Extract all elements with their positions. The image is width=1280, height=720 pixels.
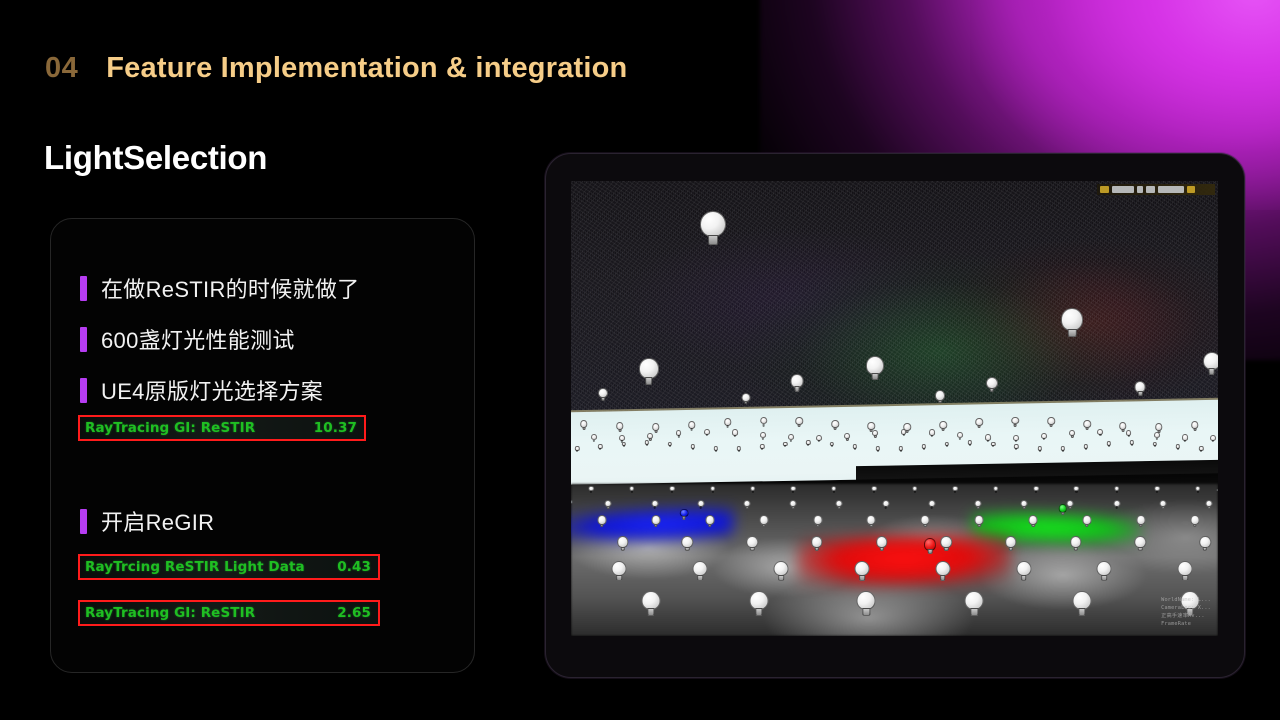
lightbulb <box>1016 561 1031 581</box>
lightbulb <box>597 515 606 527</box>
lightbulb <box>641 591 660 616</box>
lightbulb <box>759 515 768 527</box>
lightbulb <box>580 420 588 430</box>
bulb-base <box>1138 547 1142 552</box>
lightbulb <box>598 444 602 450</box>
lightbulb <box>836 500 843 509</box>
list-item: 在做ReSTIR的时候就做了 <box>80 272 359 304</box>
toolbar-button[interactable] <box>1146 186 1155 193</box>
bulb-base <box>1208 368 1215 375</box>
lightbulb <box>749 591 768 616</box>
viewport-stats-overlay: WorldName: L...CameraLoc: X...正高手速率Av...… <box>1161 596 1211 628</box>
lightbulb <box>922 444 926 450</box>
bulb-base <box>1162 506 1165 509</box>
bulb-base <box>1156 438 1158 440</box>
bulb-base <box>1062 450 1064 452</box>
lightbulb <box>1155 486 1161 493</box>
bulb-base <box>697 575 703 581</box>
bulb-base <box>792 491 794 493</box>
lightbulb <box>652 423 660 433</box>
bulb-glass <box>700 211 726 238</box>
lightbulb <box>985 434 991 442</box>
bulb-base <box>646 444 648 446</box>
lightbulb <box>710 486 716 493</box>
bulb-base <box>1131 444 1133 446</box>
lightbulb <box>732 429 738 437</box>
lightbulb <box>831 486 837 493</box>
bulb-base <box>959 438 961 440</box>
lightbulb <box>921 515 930 527</box>
bulb-base <box>600 524 603 528</box>
bulb-base <box>1212 440 1214 442</box>
bulb-base <box>746 506 749 509</box>
lightbulb <box>1083 420 1091 430</box>
list-item: UE4原版灯光选择方案 <box>80 374 323 406</box>
lightbulb <box>853 444 857 450</box>
viewport-toolbar[interactable] <box>1097 184 1215 195</box>
stat-value: 0.43 <box>337 559 371 575</box>
lightbulb <box>912 486 918 493</box>
list-item: 开启ReGIR <box>80 505 214 537</box>
slide-number: 04 <box>45 52 78 85</box>
lightbulb <box>882 500 889 509</box>
bulb-base <box>995 491 997 493</box>
bulb-base <box>1009 547 1013 552</box>
bulb-base <box>708 235 718 245</box>
lightbulb <box>629 486 635 493</box>
slide-title: Feature Implementation & integration <box>106 52 627 85</box>
list-item-label: 开启ReGIR <box>101 505 214 537</box>
lightbulb <box>697 500 704 509</box>
lightbulb <box>616 422 624 432</box>
bulb-base <box>683 516 686 519</box>
bulb-base <box>1193 428 1196 431</box>
bulb-base <box>590 491 592 493</box>
lightbulb <box>668 442 672 448</box>
lightbulb <box>867 515 876 527</box>
lightbulb <box>791 486 797 493</box>
bulb-base <box>1197 491 1199 493</box>
bulb-base <box>692 448 694 450</box>
ue-editor-viewport[interactable]: WorldName: L...CameraLoc: X...正高手速率Av...… <box>571 181 1218 636</box>
lightbulb <box>591 434 597 442</box>
bulb-base <box>870 524 873 528</box>
lightbulb <box>1067 500 1074 509</box>
bulb-base <box>738 450 740 452</box>
toolbar-button[interactable] <box>1137 186 1143 193</box>
lightbulb <box>957 432 963 440</box>
lightbulb <box>1037 446 1041 452</box>
lightbulb <box>1011 417 1019 427</box>
lightbulb <box>1206 500 1213 509</box>
bulb-base <box>790 440 792 442</box>
bulb-base <box>1014 424 1017 427</box>
bulb-base <box>798 424 801 427</box>
bulb-base <box>778 575 784 581</box>
bulb-base <box>846 438 848 440</box>
toolbar-button[interactable] <box>1112 186 1134 193</box>
bulb-base <box>645 377 653 385</box>
bulb-base <box>750 547 754 552</box>
bulb-base <box>978 425 981 428</box>
lightbulb <box>832 420 840 430</box>
bulb-base <box>623 445 625 447</box>
bulb-base <box>618 429 621 432</box>
list-item: 600盏灯光性能测试 <box>80 323 295 355</box>
bulb-base <box>854 448 856 450</box>
lightbulb <box>941 536 953 551</box>
bulb-base <box>944 547 948 552</box>
lightbulb <box>1005 536 1017 551</box>
bulb-base <box>654 430 657 433</box>
lightbulb <box>724 418 732 428</box>
list-item-label: 600盏灯光性能测试 <box>101 323 295 355</box>
lightbulb <box>783 442 787 448</box>
lightbulb <box>1069 430 1075 438</box>
stat-readout-light-data: RayTrcing ReSTIR Light Data 0.43 <box>78 554 380 580</box>
bulb-base <box>1139 524 1142 528</box>
lightbulb <box>1084 444 1088 450</box>
bulb-base <box>1075 491 1077 493</box>
lightbulb <box>788 434 794 442</box>
bulb-base <box>762 424 765 427</box>
bulb-base <box>1071 435 1073 437</box>
stat-value: 2.65 <box>337 605 371 621</box>
bulb-base <box>863 608 870 616</box>
lightbulb <box>813 515 822 527</box>
bulb-base <box>621 547 625 552</box>
lightbulb <box>975 418 983 428</box>
lightbulb <box>1033 486 1039 493</box>
bulb-base <box>872 373 879 380</box>
bulb-base <box>1156 491 1158 493</box>
bulb-base <box>1116 491 1118 493</box>
bulb-base <box>761 448 763 450</box>
red-light-pool <box>797 534 1011 588</box>
bulb-base <box>599 448 601 450</box>
lightbulb <box>806 440 810 446</box>
bulb-base <box>818 440 820 442</box>
lightbulb <box>588 486 594 493</box>
bulb-base <box>1099 434 1101 436</box>
bulb-base <box>977 506 980 509</box>
lightbulb <box>1176 444 1180 450</box>
lightbulb <box>746 536 758 551</box>
bulb-base <box>969 444 971 446</box>
lightbulb <box>901 429 907 437</box>
bulb-base <box>762 524 765 528</box>
lightbulb <box>1083 515 1092 527</box>
bulb-base <box>706 434 708 436</box>
lightbulb <box>760 417 768 427</box>
lightbulb <box>1130 440 1134 446</box>
stat-readout-restir-gi-before: RayTracing GI: ReSTIR 10.37 <box>78 415 366 441</box>
bulb-base <box>1154 445 1156 447</box>
viewport-stat-line: 正高手速率Av... <box>1161 612 1211 620</box>
lightbulb <box>1070 536 1082 551</box>
bulb-base <box>928 549 933 554</box>
bulb-base <box>816 524 819 528</box>
bulb-base <box>971 608 978 616</box>
lightbulb <box>1195 486 1201 493</box>
bulb-base <box>884 506 887 509</box>
bulb-base <box>940 575 946 581</box>
lightbulb <box>945 442 949 448</box>
lightbulb <box>899 446 903 452</box>
lightbulb <box>1210 435 1216 443</box>
lightbulb <box>796 417 804 427</box>
bulb-base <box>685 547 689 552</box>
bulb-base <box>1122 429 1125 432</box>
lightbulb <box>651 500 658 509</box>
bulb-base <box>1031 524 1034 528</box>
bulb-base <box>616 575 622 581</box>
lightbulb <box>986 377 998 393</box>
lightbulb <box>750 486 756 493</box>
bulb-base <box>1035 491 1037 493</box>
bulb-base <box>931 435 933 437</box>
viewport-stat-line: WorldName: L... <box>1161 596 1211 604</box>
bulb-base <box>879 547 883 552</box>
lightbulb <box>676 430 682 438</box>
bulb-base <box>1086 427 1089 430</box>
bulb-base <box>1203 547 1207 552</box>
lightbulb <box>791 374 804 391</box>
slide-header: 04 Feature Implementation & integration <box>45 52 627 85</box>
bulb-base <box>699 506 702 509</box>
lightbulb <box>1098 429 1104 437</box>
bulb-base <box>582 427 585 430</box>
bulb-base <box>1127 435 1129 437</box>
toolbar-button[interactable] <box>1100 186 1109 193</box>
lightbulb <box>1135 381 1146 396</box>
lightbulb <box>935 561 950 581</box>
bulb-base <box>677 435 679 437</box>
lightbulb <box>1114 486 1120 493</box>
stat-value: 10.37 <box>314 420 357 436</box>
bullet-marker-icon <box>80 378 87 403</box>
bulb-base <box>734 435 736 437</box>
lightbulb <box>1135 536 1147 551</box>
bulb-base <box>902 434 904 436</box>
bulb-base <box>1200 450 1202 452</box>
lightbulb <box>952 486 958 493</box>
blue-lightbulb <box>680 509 689 520</box>
bulb-base <box>874 435 876 437</box>
green-lightbulb <box>1058 504 1067 515</box>
lightbulb <box>704 429 710 437</box>
lightbulb <box>935 390 945 403</box>
lightbulb <box>1191 421 1199 431</box>
bulb-base <box>1079 608 1086 616</box>
bulb-base <box>1115 506 1118 509</box>
bullet-marker-icon <box>80 276 87 301</box>
lightbulb <box>645 440 649 446</box>
lightbulb <box>1041 433 1047 441</box>
lightbulb <box>669 486 675 493</box>
lightbulb <box>612 561 627 581</box>
bulb-base <box>1138 391 1142 395</box>
lightbulb <box>811 536 823 551</box>
bulb-base <box>1039 450 1041 452</box>
list-item-label: UE4原版灯光选择方案 <box>101 374 323 406</box>
lightbulb <box>975 515 984 527</box>
lightbulb <box>1203 352 1218 376</box>
bulb-base <box>649 438 651 440</box>
bulb-base <box>987 440 989 442</box>
bulb-base <box>1073 547 1077 552</box>
bulb-base <box>989 388 994 393</box>
bulb-base <box>931 506 934 509</box>
stat-label: RayTracing GI: ReSTIR <box>85 420 314 436</box>
bulb-base <box>873 491 875 493</box>
bulb-base <box>795 386 800 391</box>
lightbulb <box>872 430 878 438</box>
lightbulb <box>737 446 741 452</box>
lightbulb <box>816 435 822 443</box>
lightbulb <box>743 500 750 509</box>
lightbulb <box>1199 536 1211 551</box>
lightbulb <box>975 500 982 509</box>
lightbulb <box>741 393 750 405</box>
bulb-base <box>900 450 902 452</box>
bulb-base <box>923 448 925 450</box>
bulb-base <box>838 506 841 509</box>
lightbulb <box>621 442 625 448</box>
bulb-base <box>1015 448 1017 450</box>
bulb-base <box>647 608 654 616</box>
bulb-glass <box>1061 308 1083 331</box>
lightbulb <box>1021 500 1028 509</box>
bulb-base <box>946 445 948 447</box>
lightbulb <box>844 433 850 441</box>
stat-readout-restir-gi-after: RayTracing GI: ReSTIR 2.65 <box>78 600 380 626</box>
bulb-base <box>1061 512 1064 515</box>
lightbulb <box>575 446 579 452</box>
lightbulb <box>876 446 880 452</box>
lightbulb <box>866 356 884 380</box>
bulb-base <box>631 491 633 493</box>
bulb-glass <box>639 358 659 379</box>
bulb-base <box>726 425 729 428</box>
lightbulb <box>639 358 659 384</box>
bulb-base <box>1043 438 1045 440</box>
bulb-base <box>1177 448 1179 450</box>
lightbulb <box>1178 561 1193 581</box>
lightbulb <box>1159 500 1166 509</box>
bulb-base <box>807 444 809 446</box>
bulb-base <box>859 575 865 581</box>
lightbulb <box>939 421 947 431</box>
bulb-base <box>708 524 711 528</box>
lightbulb <box>1154 432 1160 440</box>
bulb-base <box>593 440 595 442</box>
lightbulb <box>1182 434 1188 442</box>
lightbulb <box>1153 442 1157 448</box>
bulb-base <box>815 547 819 552</box>
lightbulb <box>857 591 876 616</box>
lightbulb <box>617 536 629 551</box>
lightbulb <box>1113 500 1120 509</box>
bulb-base <box>1182 575 1188 581</box>
lightbulb <box>876 536 888 551</box>
bulb-base <box>752 491 754 493</box>
bulb-base <box>576 450 578 452</box>
red-lightbulb <box>924 538 936 554</box>
page-title: LightSelection <box>44 139 267 177</box>
bulb-base <box>784 445 786 447</box>
bulb-base <box>1193 524 1196 528</box>
lightbulb <box>991 442 995 448</box>
lightbulb <box>1060 446 1064 452</box>
lightbulb <box>1013 435 1019 443</box>
viewport-stat-line: CameraLoc: X... <box>1161 604 1211 612</box>
lightbulb <box>1047 417 1055 427</box>
lightbulb <box>1107 441 1111 447</box>
bulb-base <box>607 506 610 509</box>
lightbulb <box>1097 561 1112 581</box>
stat-label: RayTracing GI: ReSTIR <box>85 605 337 621</box>
bulb-base <box>1102 575 1108 581</box>
lightbulb <box>773 561 788 581</box>
bulb-base <box>711 491 713 493</box>
scene-raytrace-noise <box>571 181 1218 427</box>
bulb-base <box>1015 440 1017 442</box>
lightbulb <box>1073 591 1092 616</box>
viewport-stat-line: FrameRate <box>1161 620 1211 628</box>
lightbulb <box>651 515 660 527</box>
bulb-base <box>1108 445 1110 447</box>
bulb-base <box>744 401 747 405</box>
lightbulb <box>688 421 696 431</box>
bulb-base <box>942 428 945 431</box>
tablet-device-frame: WorldName: L...CameraLoc: X...正高手速率Av...… <box>545 153 1245 678</box>
lightbulb <box>965 591 984 616</box>
bulb-base <box>877 450 879 452</box>
lightbulb <box>693 561 708 581</box>
toolbar-button[interactable] <box>1158 186 1184 193</box>
bulb-base <box>1023 506 1026 509</box>
bulb-base <box>831 445 833 447</box>
bulb-base <box>715 450 717 452</box>
bulb-base <box>762 438 764 440</box>
bulb-base <box>1050 424 1053 427</box>
bulb-base <box>669 445 671 447</box>
lightbulb <box>854 561 869 581</box>
bulb-base <box>992 445 994 447</box>
lightbulb <box>598 388 608 401</box>
bulb-base <box>978 524 981 528</box>
lightbulb <box>705 515 714 527</box>
lightbulb <box>1199 446 1203 452</box>
bulb-base <box>938 400 942 404</box>
lightbulb <box>1074 486 1080 493</box>
bulb-base <box>792 506 795 509</box>
lightbulb <box>605 500 612 509</box>
bulb-base <box>954 491 956 493</box>
toolbar-button[interactable] <box>1187 186 1195 193</box>
bulb-base <box>924 524 927 528</box>
lightbulb <box>1014 444 1018 450</box>
bulb-base <box>834 427 837 430</box>
lightbulb <box>1190 515 1199 527</box>
device-screen: WorldName: L...CameraLoc: X...正高手速率Av...… <box>571 181 1218 636</box>
lightbulb <box>928 500 935 509</box>
lightbulb <box>691 444 695 450</box>
lightbulb <box>714 446 718 452</box>
bulb-base <box>1069 506 1072 509</box>
bulb-base <box>1021 575 1027 581</box>
